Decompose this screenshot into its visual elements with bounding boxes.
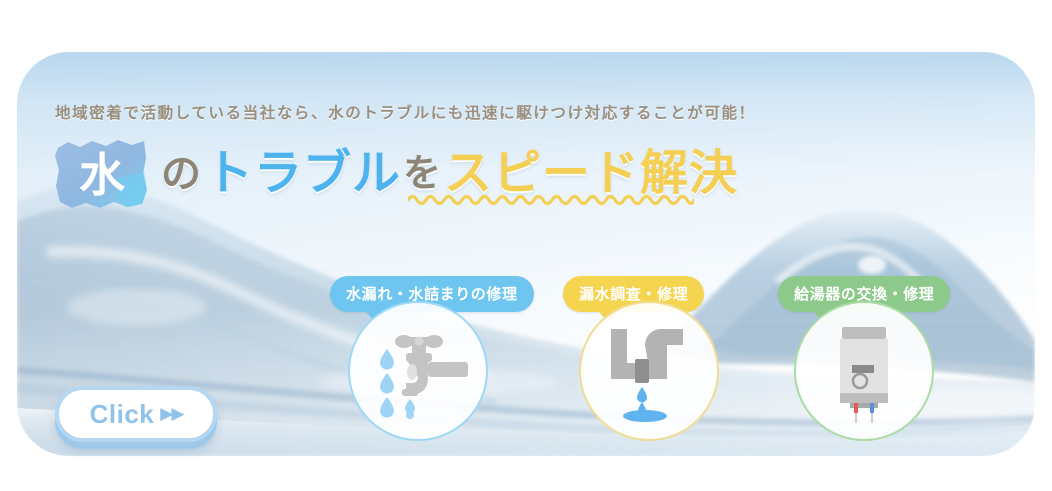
wavy-underline [408, 192, 694, 206]
service-icon-circle-water-heater[interactable] [794, 301, 934, 441]
service-badge-label: 漏水調査・修理 [579, 286, 688, 303]
service-icon-circle-leak-repair[interactable] [348, 301, 488, 441]
double-chevron-right-icon: ▶▶ [160, 404, 182, 424]
brush-stroke-kanji: 水 [54, 138, 150, 210]
hero-tagline: 地域密着で活動している当社なら、水のトラブルにも迅速に駆けつけ対応することが可能… [55, 101, 756, 123]
service-icon-circle-leak-inspection[interactable] [579, 301, 719, 441]
headline-segment-trouble: トラブル [205, 150, 401, 198]
click-cta-button[interactable]: Click ▶▶ [55, 386, 217, 442]
water-heater-icon [808, 315, 920, 427]
service-badge-label: 水漏れ・水詰まりの修理 [346, 286, 518, 303]
page-root: 地域密着で活動している当社なら、水のトラブルにも迅速に駆けつけ対応することが可能… [0, 0, 1052, 491]
click-cta-text: Click [90, 399, 155, 430]
click-cta-label-wrap: Click ▶▶ [90, 399, 183, 430]
service-item-leak-inspection[interactable]: 漏水調査・修理 [563, 276, 763, 312]
headline-segment-speed-solve: スピード解決 [444, 150, 738, 198]
faucet-dripping-icon [362, 315, 474, 427]
leaking-pipe-icon [593, 315, 705, 427]
service-list: 水漏れ・水詰まりの修理 [330, 276, 990, 466]
headline-segment-no: の [161, 154, 202, 194]
headline-segment-wo: を [403, 155, 442, 193]
service-item-leak-repair[interactable]: 水漏れ・水詰まりの修理 [330, 276, 530, 312]
service-item-water-heater[interactable]: 給湯器の交換・修理 [778, 276, 978, 312]
headline-kanji-water: 水 [79, 152, 125, 198]
